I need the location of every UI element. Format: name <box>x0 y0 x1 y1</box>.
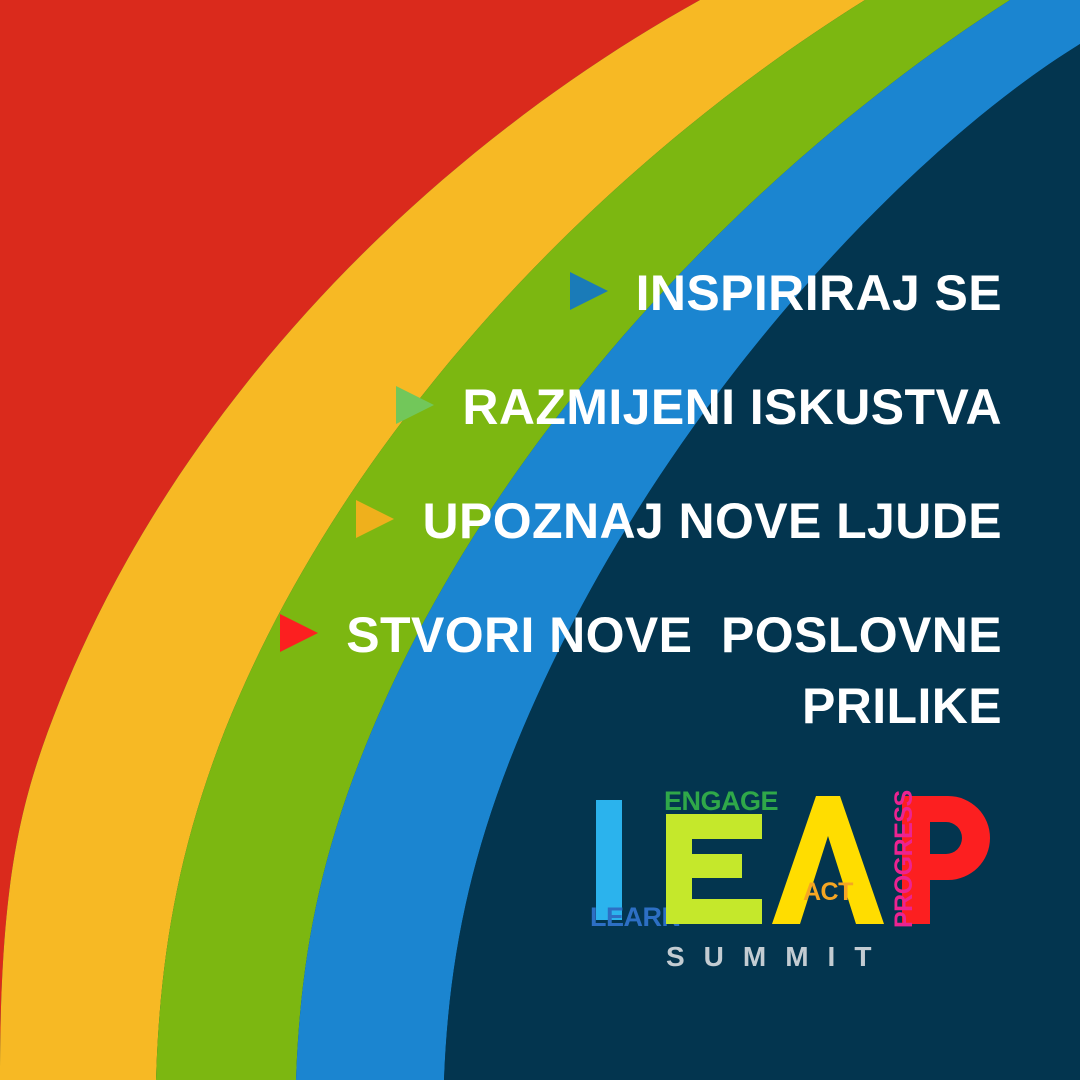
list-item: INSPIRIRAJ SE <box>0 258 1002 329</box>
poster-canvas: INSPIRIRAJ SE RAZMIJENI ISKUSTVA UPOZNAJ… <box>0 0 1080 1080</box>
list-item-label: INSPIRIRAJ SE <box>636 258 1002 329</box>
play-triangle-icon <box>280 614 318 652</box>
list-item-label: RAZMIJENI ISKUSTVA <box>462 372 1002 443</box>
benefits-list: INSPIRIRAJ SE RAZMIJENI ISKUSTVA UPOZNAJ… <box>0 258 1002 742</box>
list-item: UPOZNAJ NOVE LJUDE <box>0 486 1002 557</box>
play-triangle-icon <box>396 386 434 424</box>
leap-summit-logo: LEARN ENGAGE ACT PROGRESS SUMMIT <box>588 778 1000 978</box>
list-item: STVORI NOVE POSLOVNE PRILIKE <box>0 600 1002 742</box>
list-item-label: UPOZNAJ NOVE LJUDE <box>422 486 1002 557</box>
logo-word-act: ACT <box>803 878 853 906</box>
logo-word-engage: ENGAGE <box>664 786 778 816</box>
logo-letter-e <box>666 814 762 924</box>
list-item-label: STVORI NOVE POSLOVNE PRILIKE <box>346 600 1002 742</box>
play-triangle-icon <box>356 500 394 538</box>
logo-tagline-summit: SUMMIT <box>666 941 890 972</box>
logo-word-progress: PROGRESS <box>890 790 918 928</box>
list-item: RAZMIJENI ISKUSTVA <box>0 372 1002 443</box>
play-triangle-icon <box>570 272 608 310</box>
